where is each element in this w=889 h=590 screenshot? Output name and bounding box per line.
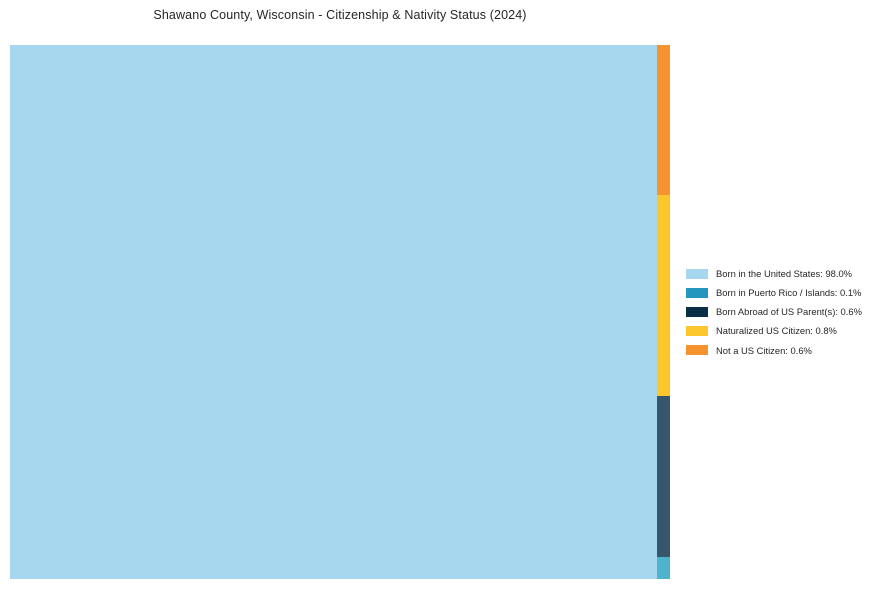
legend-swatch-icon: [686, 326, 708, 336]
legend-item-born-abroad-of-us-parents[interactable]: Born Abroad of US Parent(s): 0.6%: [686, 302, 886, 321]
mosaic-tile-born-abroad-of-us-parents[interactable]: [657, 396, 670, 557]
legend-swatch-icon: [686, 288, 708, 298]
mosaic-tile-naturalized-us-citizen[interactable]: [657, 195, 670, 396]
chart-title: Shawano County, Wisconsin - Citizenship …: [0, 8, 680, 22]
mosaic-tile-not-a-us-citizen[interactable]: [657, 45, 670, 195]
legend-item-label: Not a US Citizen: 0.6%: [716, 346, 812, 355]
legend-item-not-a-us-citizen[interactable]: Not a US Citizen: 0.6%: [686, 341, 886, 360]
mosaic-minor-column: [657, 45, 670, 579]
legend-item-naturalized-us-citizen[interactable]: Naturalized US Citizen: 0.8%: [686, 322, 886, 341]
chart-figure: Shawano County, Wisconsin - Citizenship …: [0, 0, 889, 590]
legend-item-label: Born in the United States: 98.0%: [716, 269, 852, 278]
chart-legend: Born in the United States: 98.0% Born in…: [686, 264, 886, 360]
legend-swatch-icon: [686, 345, 708, 355]
legend-item-label: Born in Puerto Rico / Islands: 0.1%: [716, 288, 861, 297]
mosaic-plot-area: [10, 45, 670, 579]
legend-item-label: Naturalized US Citizen: 0.8%: [716, 326, 837, 335]
legend-item-label: Born Abroad of US Parent(s): 0.6%: [716, 307, 862, 316]
legend-swatch-icon: [686, 269, 708, 279]
mosaic-tile-born-in-puerto-rico-islands[interactable]: [657, 557, 670, 579]
mosaic-tile-born-in-the-united-states[interactable]: [10, 45, 657, 579]
legend-item-born-in-the-united-states[interactable]: Born in the United States: 98.0%: [686, 264, 886, 283]
legend-swatch-icon: [686, 307, 708, 317]
legend-item-born-in-puerto-rico-islands[interactable]: Born in Puerto Rico / Islands: 0.1%: [686, 283, 886, 302]
